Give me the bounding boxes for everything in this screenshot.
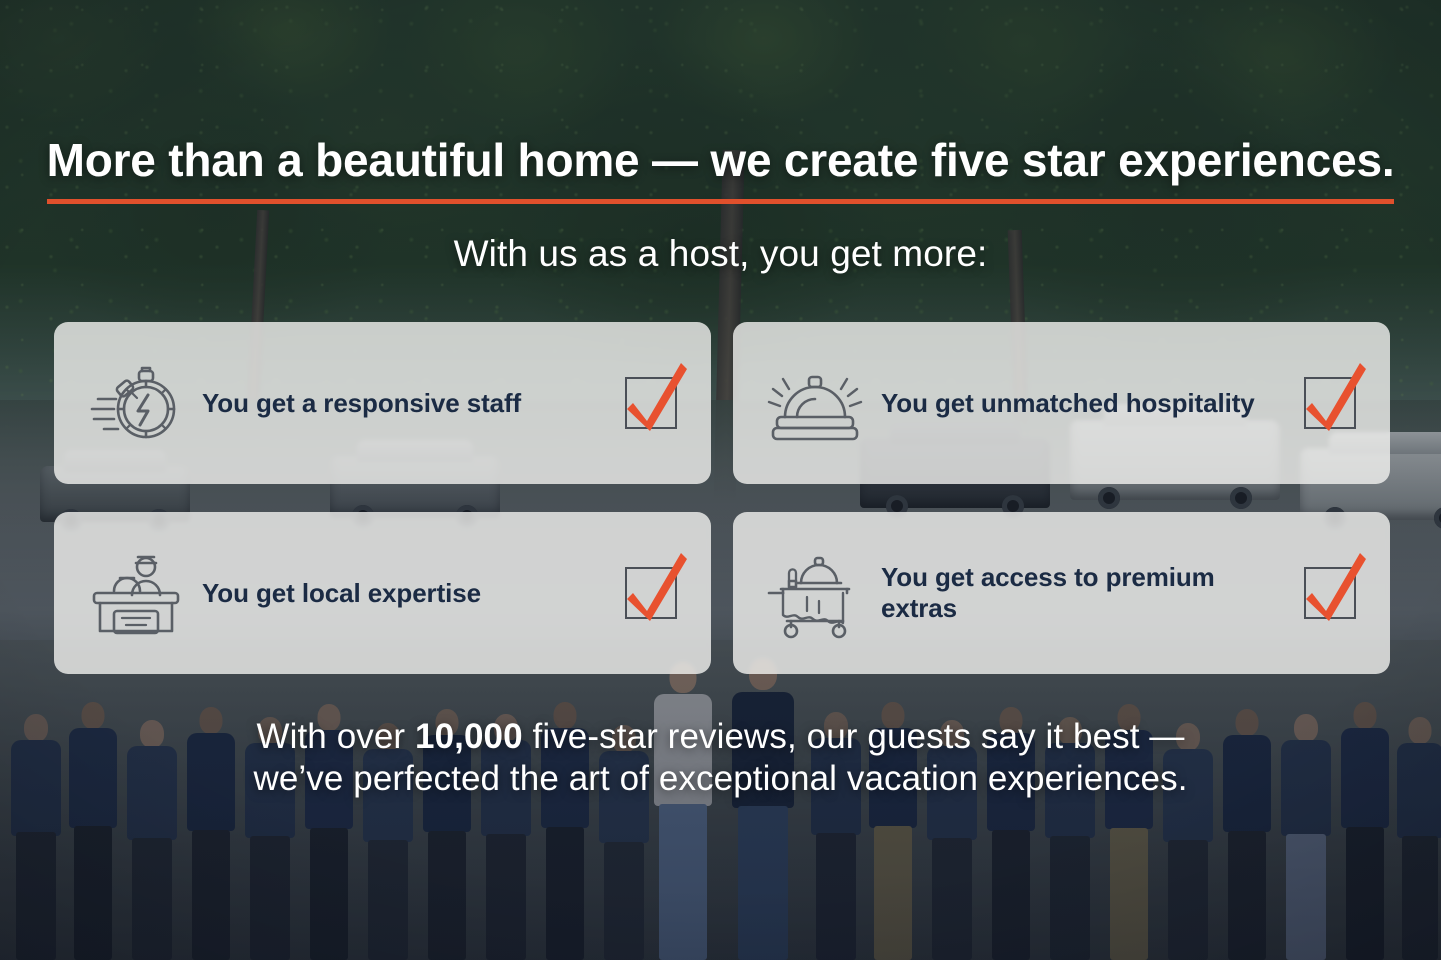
checkbox-checked[interactable] — [1304, 567, 1356, 619]
benefit-card-responsive-staff[interactable]: You get a responsive staff — [54, 322, 711, 484]
benefit-label: You get access to premium extras — [867, 562, 1286, 624]
footnote-line-2: we’ve perfected the art of exceptional v… — [0, 758, 1441, 800]
checkbox-checked[interactable] — [1304, 377, 1356, 429]
reception-desk-icon — [84, 545, 188, 641]
footnote-line-1: With over 10,000 five-star reviews, our … — [0, 716, 1441, 758]
review-footnote: With over 10,000 five-star reviews, our … — [0, 716, 1441, 800]
footnote-prefix: With over — [256, 717, 415, 756]
headline-container: More than a beautiful home — we create f… — [0, 134, 1441, 204]
benefit-label: You get local expertise — [188, 578, 607, 609]
footnote-suffix: five-star reviews, our guests say it bes… — [523, 717, 1185, 756]
benefit-card-premium-extras[interactable]: You get access to premium extras — [733, 512, 1390, 674]
benefit-card-local-expertise[interactable]: You get local expertise — [54, 512, 711, 674]
checkmark-icon — [619, 549, 691, 625]
checkmark-icon — [1298, 359, 1370, 435]
checkmark-icon — [1298, 549, 1370, 625]
benefit-label: You get unmatched hospitality — [867, 388, 1286, 419]
checkmark-icon — [619, 359, 691, 435]
room-service-cart-icon — [763, 545, 867, 641]
subheading: With us as a host, you get more: — [0, 233, 1441, 275]
benefits-grid: You get a responsive staff — [54, 322, 1390, 674]
footnote-review-count: 10,000 — [415, 717, 523, 756]
checkbox-checked[interactable] — [625, 567, 677, 619]
benefit-card-unmatched-hospitality[interactable]: You get unmatched hospitality — [733, 322, 1390, 484]
page-title: More than a beautiful home — we create f… — [47, 134, 1395, 204]
benefit-label: You get a responsive staff — [188, 388, 607, 419]
service-bell-icon — [763, 355, 867, 451]
checkbox-checked[interactable] — [625, 377, 677, 429]
stopwatch-lightning-icon — [84, 355, 188, 451]
marketing-hero-section: More than a beautiful home — we create f… — [0, 0, 1441, 960]
